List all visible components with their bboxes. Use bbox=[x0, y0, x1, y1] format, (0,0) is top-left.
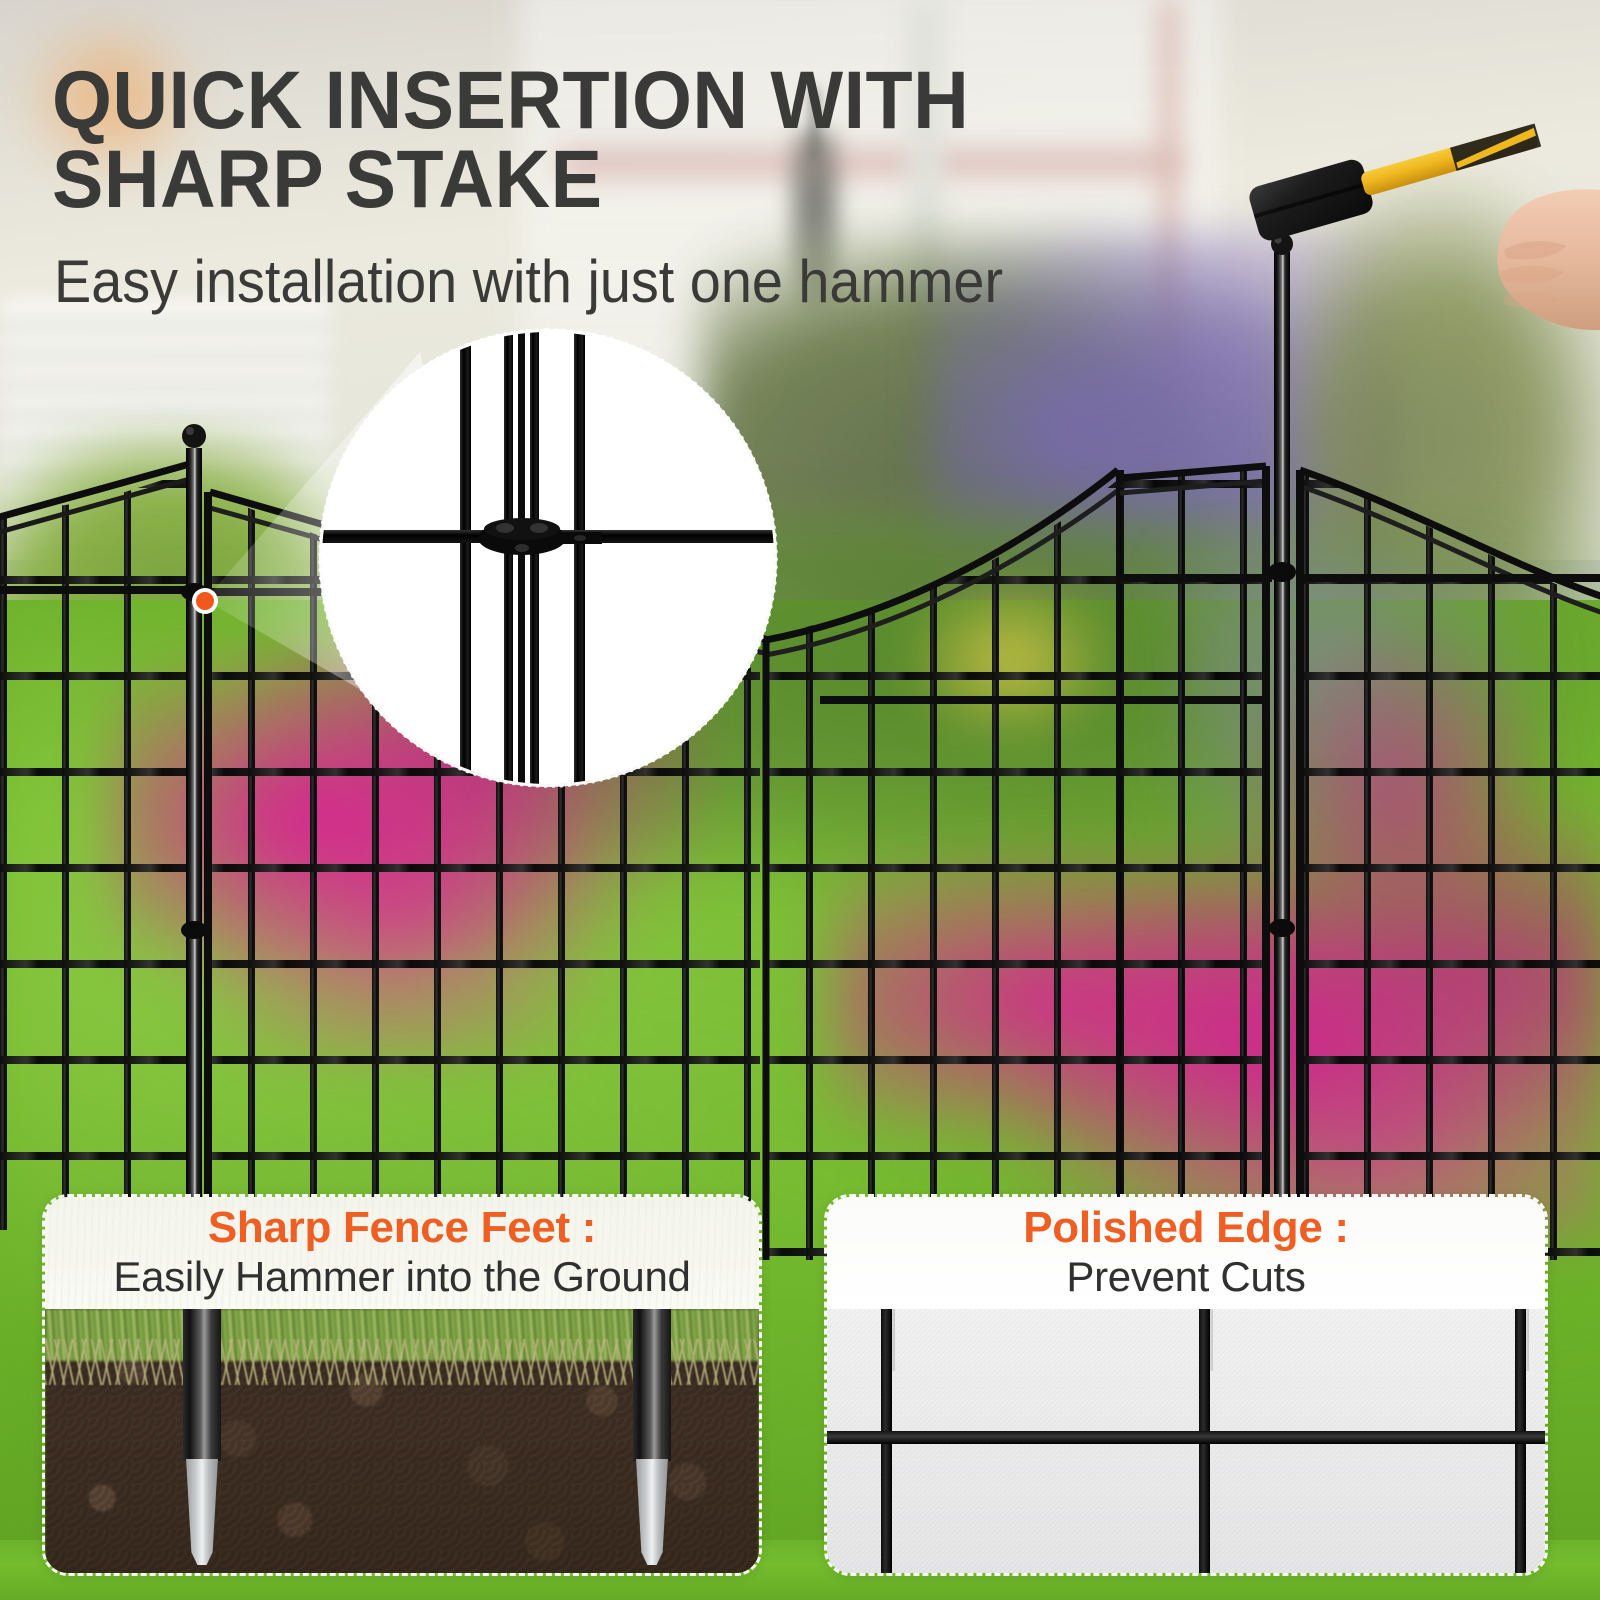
callout-title-left: Sharp Fence Feet : bbox=[45, 1197, 759, 1254]
stake-shaft bbox=[633, 1309, 671, 1461]
callout-header-left: Sharp Fence Feet : Easily Hammer into th… bbox=[45, 1197, 759, 1309]
callout-title-right: Polished Edge : bbox=[827, 1197, 1545, 1254]
stake-sharp-tip bbox=[183, 1459, 221, 1565]
headline-line-2: SHARP STAKE bbox=[52, 141, 992, 220]
callout-card-polished-edge: Polished Edge : Prevent Cuts bbox=[824, 1194, 1548, 1576]
callout-header-right: Polished Edge : Prevent Cuts bbox=[827, 1197, 1545, 1309]
callout-subtitle-right: Prevent Cuts bbox=[827, 1254, 1545, 1300]
fence-panel-5 bbox=[1296, 460, 1600, 1270]
mesh-wire-horizontal bbox=[827, 1431, 1545, 1444]
product-feature-image: QUICK INSERTION WITH SHARP STAKE Easy in… bbox=[0, 0, 1600, 1600]
fence-panel-4 bbox=[1118, 460, 1278, 1270]
page-title: QUICK INSERTION WITH SHARP STAKE bbox=[52, 62, 992, 219]
callout-card-sharp-fence-feet: Sharp Fence Feet : Easily Hammer into th… bbox=[42, 1194, 762, 1576]
hand bbox=[1497, 189, 1600, 330]
fence-stake bbox=[183, 1309, 221, 1565]
headline-line-1: QUICK INSERTION WITH bbox=[52, 62, 992, 141]
page-subtitle: Easy installation with just one hammer bbox=[54, 252, 1077, 312]
fence-post-tall bbox=[1268, 233, 1296, 1262]
fence-stake bbox=[633, 1309, 671, 1565]
rubber-mallet bbox=[1247, 108, 1546, 243]
stake-sharp-tip bbox=[633, 1459, 671, 1565]
magnified-wire-joint bbox=[322, 332, 774, 784]
photo-stakes-in-soil bbox=[45, 1309, 759, 1576]
wire-joint-detail bbox=[322, 332, 774, 784]
callout-subtitle-left: Easily Hammer into the Ground bbox=[45, 1254, 759, 1300]
stake-shaft bbox=[183, 1309, 221, 1461]
orange-dot-marker bbox=[182, 578, 228, 624]
photo-mesh-closeup bbox=[827, 1309, 1545, 1576]
